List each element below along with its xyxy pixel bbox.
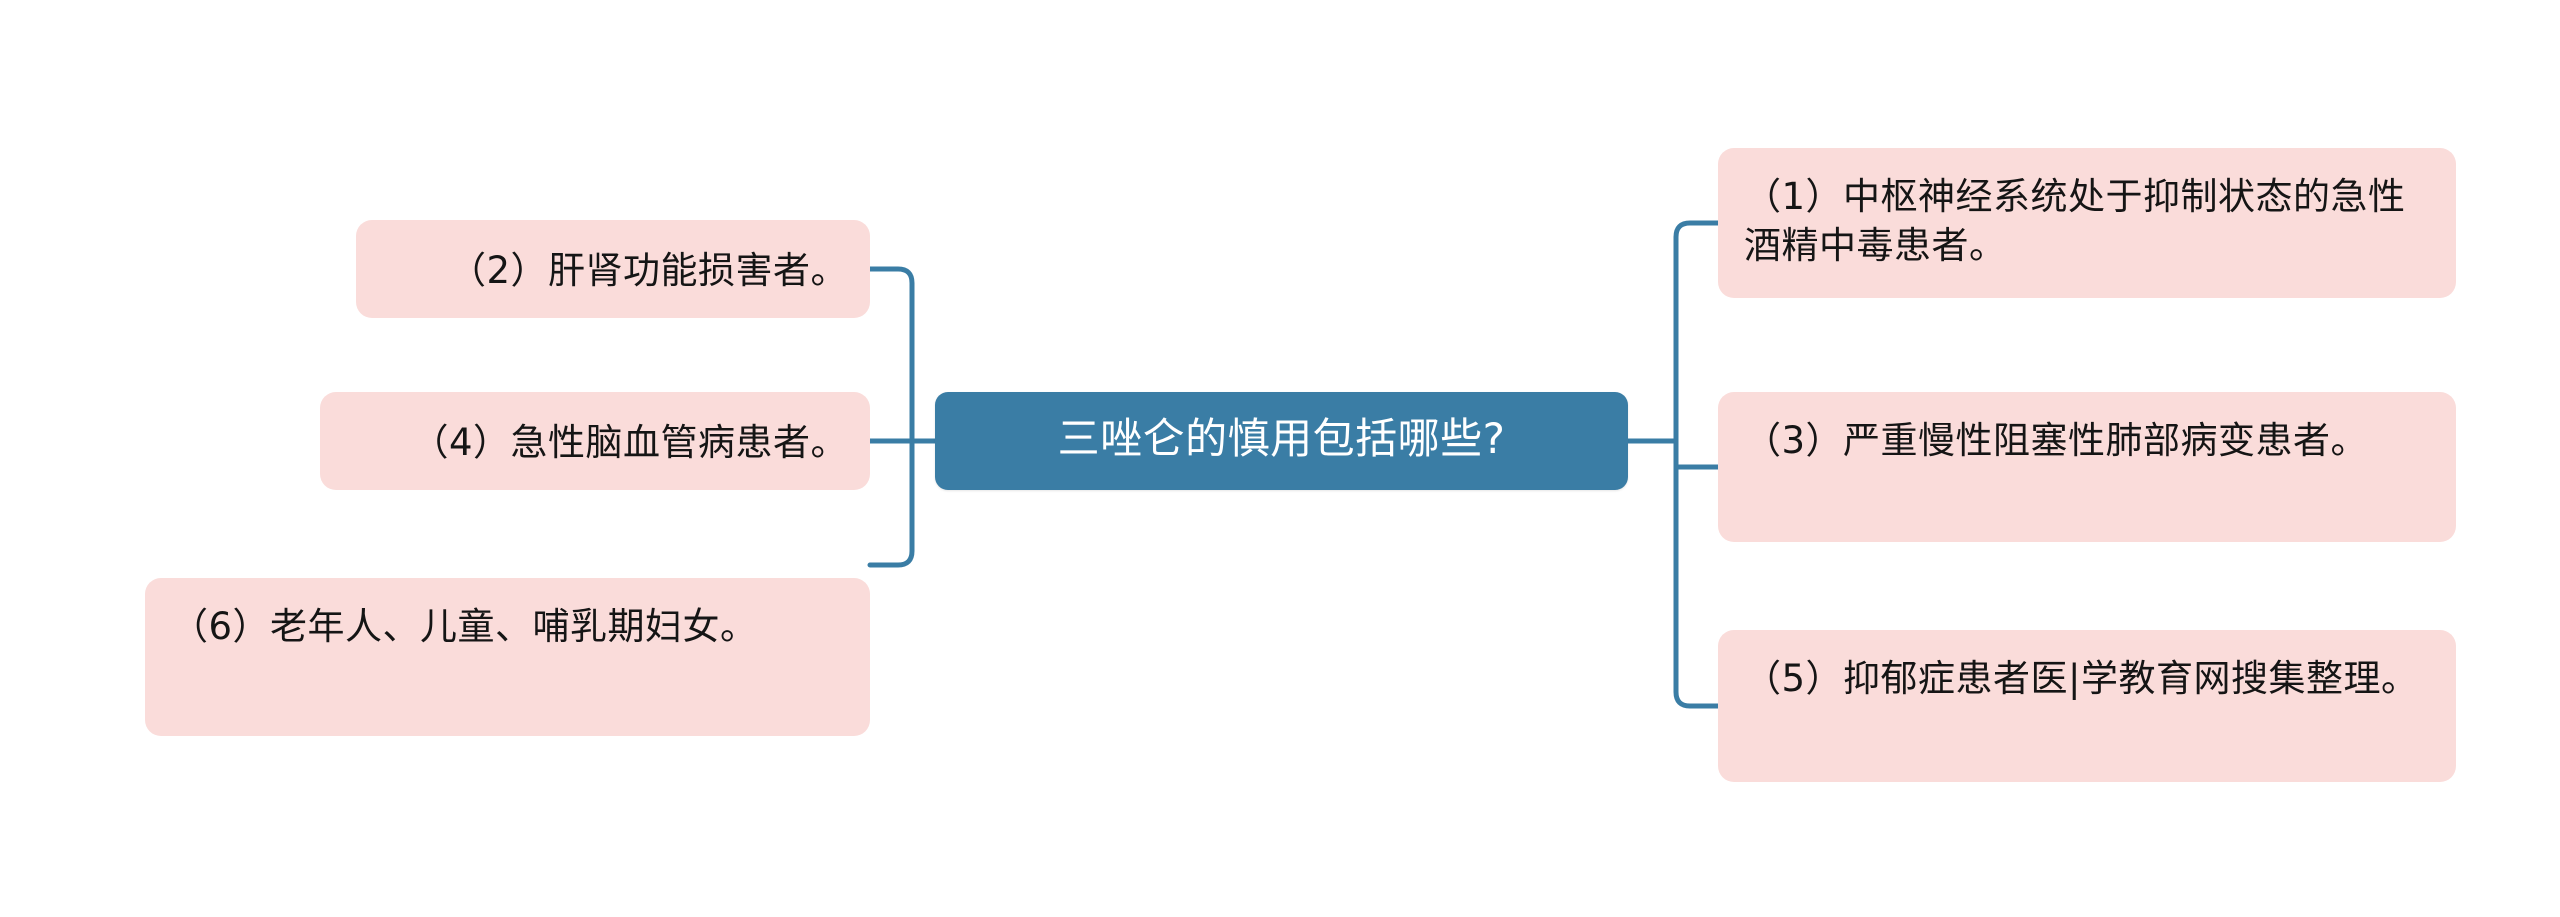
branch-node-1[interactable]: （1）中枢神经系统处于抑制状态的急性酒精中毒患者。 bbox=[1718, 148, 2456, 298]
right-trunk-path bbox=[1676, 223, 1718, 706]
branch-node-5[interactable]: （5）抑郁症患者医|学教育网搜集整理。 bbox=[1718, 630, 2456, 782]
branch-node-3[interactable]: （3）严重慢性阻塞性肺部病变患者。 bbox=[1718, 392, 2456, 542]
branch-node-6-label: （6）老年人、儿童、哺乳期妇女。 bbox=[171, 602, 844, 651]
branch-node-2-label: （2）肝肾功能损害者。 bbox=[378, 246, 848, 295]
left-trunk-path bbox=[870, 269, 912, 565]
central-topic-label: 三唑仑的慎用包括哪些? bbox=[953, 414, 1610, 464]
mind-map-canvas: （2）肝肾功能损害者。 （4）急性脑血管病患者。 （6）老年人、儿童、哺乳期妇女… bbox=[0, 0, 2560, 917]
central-topic-node[interactable]: 三唑仑的慎用包括哪些? bbox=[935, 392, 1628, 490]
branch-node-3-label: （3）严重慢性阻塞性肺部病变患者。 bbox=[1744, 416, 2430, 465]
branch-node-4-label: （4）急性脑血管病患者。 bbox=[342, 418, 848, 467]
branch-node-6[interactable]: （6）老年人、儿童、哺乳期妇女。 bbox=[145, 578, 870, 736]
branch-node-5-label: （5）抑郁症患者医|学教育网搜集整理。 bbox=[1744, 654, 2430, 703]
branch-node-4[interactable]: （4）急性脑血管病患者。 bbox=[320, 392, 870, 490]
branch-node-1-label: （1）中枢神经系统处于抑制状态的急性酒精中毒患者。 bbox=[1744, 172, 2430, 270]
branch-node-2[interactable]: （2）肝肾功能损害者。 bbox=[356, 220, 870, 318]
